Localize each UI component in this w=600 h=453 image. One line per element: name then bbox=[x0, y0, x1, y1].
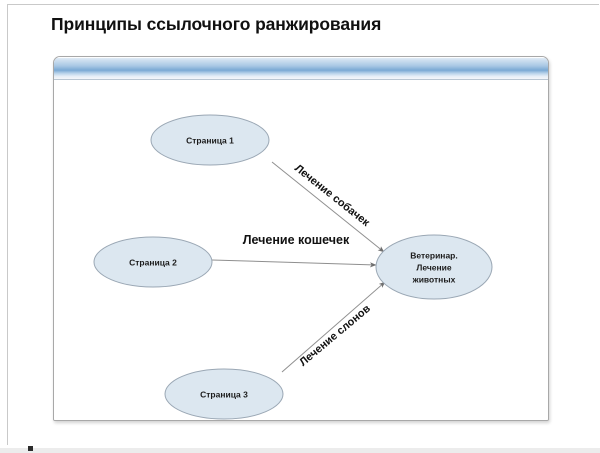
link-ranking-diagram: Лечение собачек Лечение кошечек Лечение … bbox=[54, 80, 548, 420]
node-page2[interactable]: Страница 2 bbox=[94, 237, 212, 287]
edge-label-1: Лечение собачек bbox=[292, 162, 372, 229]
node-page1-label: Страница 1 bbox=[186, 135, 234, 145]
slide-bottom-strip bbox=[0, 448, 600, 453]
edge-page3-target: Лечение слонов bbox=[282, 282, 385, 372]
node-page3-label: Страница 3 bbox=[200, 389, 248, 399]
slide-canvas: Принципы ссылочного ранжирования Лечение… bbox=[0, 0, 600, 453]
edge-label-2: Лечение кошечек bbox=[243, 233, 350, 247]
node-target-veterinarian[interactable]: Ветеринар. Лечение животных bbox=[376, 235, 492, 299]
slide-left-border bbox=[7, 4, 8, 445]
node-target-label-line3: животных bbox=[412, 274, 456, 284]
page-title: Принципы ссылочного ранжирования bbox=[51, 14, 551, 35]
node-target-label-line2: Лечение bbox=[416, 262, 452, 272]
diagram-window: Лечение собачек Лечение кошечек Лечение … bbox=[53, 56, 549, 421]
node-target-label-line1: Ветеринар. bbox=[410, 250, 457, 260]
window-titlebar[interactable] bbox=[54, 57, 548, 80]
edge-label-3: Лечение слонов bbox=[297, 303, 373, 369]
node-page1[interactable]: Страница 1 bbox=[151, 115, 269, 165]
slide-top-border bbox=[7, 4, 599, 5]
node-page3[interactable]: Страница 3 bbox=[165, 369, 283, 419]
slide-resize-handle[interactable] bbox=[28, 446, 33, 451]
window-body: Лечение собачек Лечение кошечек Лечение … bbox=[54, 80, 548, 420]
edge-page2-target: Лечение кошечек bbox=[212, 233, 376, 265]
edge-line-2 bbox=[212, 260, 376, 265]
node-page2-label: Страница 2 bbox=[129, 257, 177, 267]
